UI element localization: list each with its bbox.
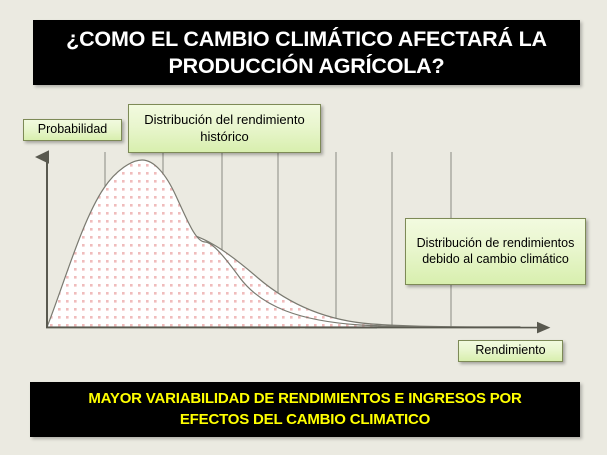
title-line-1: ¿COMO EL CAMBIO CLIMÁTICO AFECTARÁ LA <box>66 27 547 51</box>
x-axis-label: Rendimiento <box>458 340 563 362</box>
y-axis-label: Probabilidad <box>23 119 122 141</box>
page-title: ¿COMO EL CAMBIO CLIMÁTICO AFECTARÁ LA PR… <box>66 26 547 80</box>
title-banner: ¿COMO EL CAMBIO CLIMÁTICO AFECTARÁ LA PR… <box>33 20 580 85</box>
footer-banner: MAYOR VARIABILIDAD DE RENDIMIENTOS E ING… <box>30 382 580 437</box>
callout-historical-distribution: Distribución del rendimiento histórico <box>128 104 321 153</box>
footer-line-2: EFECTOS DEL CAMBIO CLIMATICO <box>180 411 430 428</box>
footer-text: MAYOR VARIABILIDAD DE RENDIMIENTOS E ING… <box>88 389 521 430</box>
callout-climate-distribution: Distribución de rendimientos debido al c… <box>405 218 586 285</box>
footer-line-1: MAYOR VARIABILIDAD DE RENDIMIENTOS E ING… <box>88 390 521 407</box>
title-line-2: PRODUCCIÓN AGRÍCOLA? <box>169 54 445 78</box>
slide-canvas: ¿COMO EL CAMBIO CLIMÁTICO AFECTARÁ LA PR… <box>0 0 607 455</box>
